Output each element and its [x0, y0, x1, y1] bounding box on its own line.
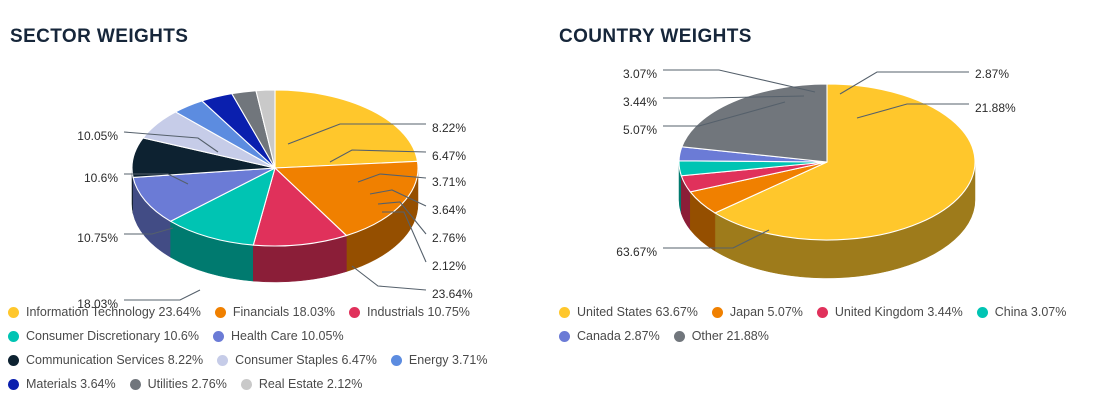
legend-color-swatch-icon: [674, 331, 685, 342]
legend-color-swatch-icon: [241, 379, 252, 390]
callout-label: 63.67%: [616, 245, 657, 259]
legend-color-swatch-icon: [712, 307, 723, 318]
legend-color-swatch-icon: [215, 307, 226, 318]
legend-item-label: Financials 18.03%: [233, 305, 335, 319]
legend-color-swatch-icon: [559, 307, 570, 318]
pie-svg: 8.22%6.47%3.71%3.64%2.76%2.12%23.64%10.0…: [0, 52, 547, 287]
legend-item[interactable]: Energy 3.71%: [391, 348, 488, 372]
callout-label: 2.12%: [432, 259, 466, 273]
callout-label: 21.88%: [975, 101, 1016, 115]
legend-item-label: Consumer Discretionary 10.6%: [26, 329, 199, 343]
legend-item[interactable]: United Kingdom 3.44%: [817, 300, 963, 324]
legend-item-label: Other 21.88%: [692, 329, 769, 343]
pie-chart-sector[interactable]: 8.22%6.47%3.71%3.64%2.76%2.12%23.64%10.0…: [0, 52, 547, 287]
legend-item[interactable]: Financials 18.03%: [215, 300, 335, 324]
pie-slice[interactable]: [275, 90, 417, 168]
legend-country: United States 63.67%Japan 5.07%United Ki…: [559, 300, 1094, 348]
legend-item-label: China 3.07%: [995, 305, 1067, 319]
legend-color-swatch-icon: [349, 307, 360, 318]
legend-item-label: United Kingdom 3.44%: [835, 305, 963, 319]
legend-item[interactable]: Real Estate 2.12%: [241, 372, 363, 396]
pie-svg: 2.87%21.88%3.07%3.44%5.07%63.67%: [547, 52, 1094, 287]
legend-color-swatch-icon: [559, 331, 570, 342]
legend-item-label: Health Care 10.05%: [231, 329, 344, 343]
callout-label: 3.07%: [623, 67, 657, 81]
callout-label: 3.71%: [432, 175, 466, 189]
callout-label: 23.64%: [432, 287, 473, 301]
legend-item[interactable]: China 3.07%: [977, 300, 1067, 324]
legend-item-label: Utilities 2.76%: [148, 377, 227, 391]
legend-item-label: Industrials 10.75%: [367, 305, 470, 319]
legend-item[interactable]: Industrials 10.75%: [349, 300, 470, 324]
legend-item[interactable]: Consumer Discretionary 10.6%: [8, 324, 199, 348]
legend-item[interactable]: Other 21.88%: [674, 324, 769, 348]
callout-label: 2.76%: [432, 231, 466, 245]
legend-item-label: Communication Services 8.22%: [26, 353, 203, 367]
legend-color-swatch-icon: [391, 355, 402, 366]
legend-item[interactable]: Communication Services 8.22%: [8, 348, 203, 372]
legend-item-label: United States 63.67%: [577, 305, 698, 319]
dashboard-root: SECTOR WEIGHTS 8.22%6.47%3.71%3.64%2.76%…: [0, 0, 1094, 407]
legend-item-label: Energy 3.71%: [409, 353, 488, 367]
legend-item[interactable]: Canada 2.87%: [559, 324, 660, 348]
legend-item-label: Canada 2.87%: [577, 329, 660, 343]
legend-item[interactable]: United States 63.67%: [559, 300, 698, 324]
legend-item-label: Real Estate 2.12%: [259, 377, 363, 391]
callout-label: 3.44%: [623, 95, 657, 109]
legend-item[interactable]: Consumer Staples 6.47%: [217, 348, 377, 372]
legend-item[interactable]: Information Technology 23.64%: [8, 300, 201, 324]
legend-color-swatch-icon: [8, 379, 19, 390]
callout-leader-line: [352, 266, 426, 290]
legend-color-swatch-icon: [130, 379, 141, 390]
callout-label: 10.05%: [77, 129, 118, 143]
legend-item-label: Japan 5.07%: [730, 305, 803, 319]
legend-color-swatch-icon: [817, 307, 828, 318]
pie-chart-country[interactable]: 2.87%21.88%3.07%3.44%5.07%63.67%: [547, 52, 1094, 287]
callout-label: 5.07%: [623, 123, 657, 137]
legend-item[interactable]: Utilities 2.76%: [130, 372, 227, 396]
legend-item[interactable]: Materials 3.64%: [8, 372, 116, 396]
pie-top-faces: [679, 84, 975, 240]
legend-item[interactable]: Japan 5.07%: [712, 300, 803, 324]
pie-top-faces: [132, 90, 418, 246]
callout-leader-line: [124, 290, 200, 300]
legend-color-swatch-icon: [213, 331, 224, 342]
page-title-country: COUNTRY WEIGHTS: [559, 26, 752, 48]
legend-color-swatch-icon: [217, 355, 228, 366]
legend-item[interactable]: Health Care 10.05%: [213, 324, 344, 348]
callout-label: 3.64%: [432, 203, 466, 217]
callout-label: 6.47%: [432, 149, 466, 163]
callout-label: 2.87%: [975, 67, 1009, 81]
callout-label: 8.22%: [432, 121, 466, 135]
legend-color-swatch-icon: [8, 307, 19, 318]
legend-item-label: Consumer Staples 6.47%: [235, 353, 377, 367]
legend-item-label: Information Technology 23.64%: [26, 305, 201, 319]
callout-label: 10.75%: [77, 231, 118, 245]
legend-color-swatch-icon: [977, 307, 988, 318]
panel-sector-weights: SECTOR WEIGHTS 8.22%6.47%3.71%3.64%2.76%…: [0, 0, 547, 407]
legend-color-swatch-icon: [8, 355, 19, 366]
legend-color-swatch-icon: [8, 331, 19, 342]
page-title-sector: SECTOR WEIGHTS: [10, 26, 188, 48]
legend-item-label: Materials 3.64%: [26, 377, 116, 391]
panel-country-weights: COUNTRY WEIGHTS 2.87%21.88%3.07%3.44%5.0…: [547, 0, 1094, 407]
callout-label: 10.6%: [84, 171, 118, 185]
legend-sector: Information Technology 23.64%Financials …: [8, 300, 547, 396]
